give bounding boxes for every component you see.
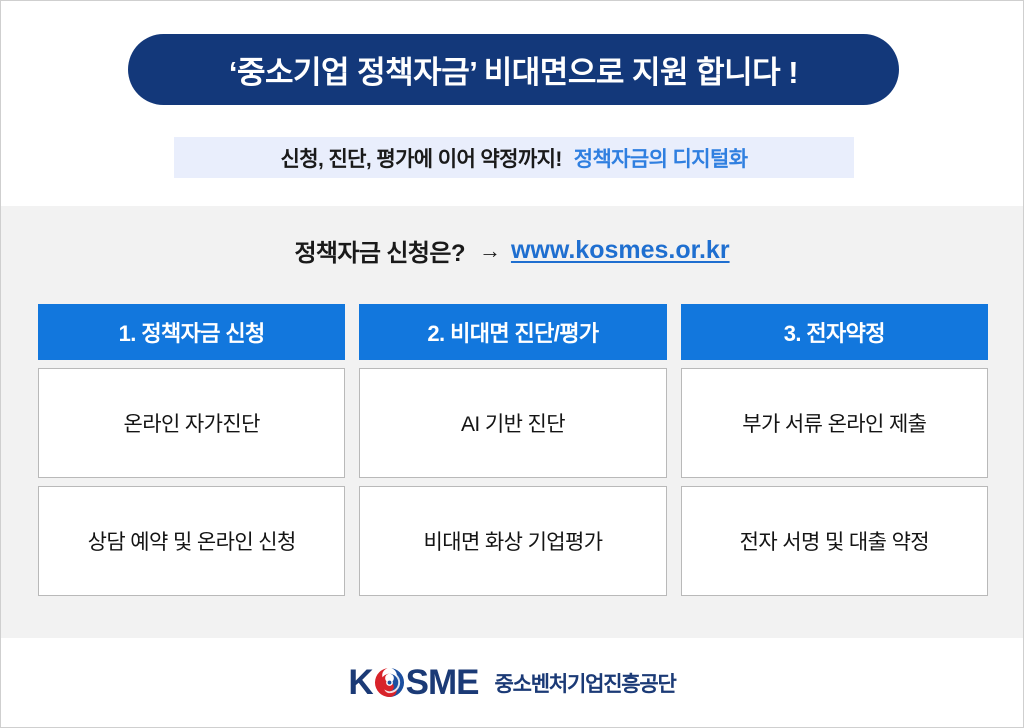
title-text: ‘중소기업 정책자금’ 비대면으로 지원 합니다 ! [229,47,798,92]
column-header-2: 2. 비대면 진단/평가 [359,304,666,360]
kosmes-website-link[interactable]: www.kosmes.or.kr [511,236,730,265]
infographic-page: ‘중소기업 정책자금’ 비대면으로 지원 합니다 ! 신청, 진단, 평가에 이… [0,0,1024,728]
process-cell-3-1-label: 부가 서류 온라인 제출 [742,408,926,438]
subtitle-band: 신청, 진단, 평가에 이어 약정까지! 정책자금의 디지털화 [174,137,854,178]
process-columns: 1. 정책자금 신청 온라인 자가진단 상담 예약 및 온라인 신청 2. 비대… [38,304,988,596]
column-header-3-label: 3. 전자약정 [784,316,885,348]
kosme-wordmark: K SME [348,665,478,700]
process-cell-2-2: 비대면 화상 기업평가 [359,486,666,596]
process-cell-2-1-label: AI 기반 진단 [461,408,565,438]
process-cell-3-1: 부가 서류 온라인 제출 [681,368,988,478]
subtitle-main-text: 신청, 진단, 평가에 이어 약정까지! [281,143,562,173]
logo-letters-sme: SME [406,665,479,700]
apply-line: 정책자금 신청은? → www.kosmes.or.kr [1,233,1023,268]
process-cell-3-2: 전자 서명 및 대출 약정 [681,486,988,596]
arrow-right-icon: → [479,238,501,264]
kosme-logo: K SME 중소벤처기업진흥공단 [348,665,675,700]
subtitle-accent-text: 정책자금의 디지털화 [574,143,748,173]
top-band: ‘중소기업 정책자금’ 비대면으로 지원 합니다 ! 신청, 진단, 평가에 이… [1,1,1023,206]
process-cell-1-2: 상담 예약 및 온라인 신청 [38,486,345,596]
process-column-2: 2. 비대면 진단/평가 AI 기반 진단 비대면 화상 기업평가 [359,304,666,596]
apply-label: 정책자금 신청은? [294,233,465,268]
column-header-1-label: 1. 정책자금 신청 [119,316,265,348]
column-header-2-label: 2. 비대면 진단/평가 [427,316,598,348]
column-header-3: 3. 전자약정 [681,304,988,360]
process-cell-1-1: 온라인 자가진단 [38,368,345,478]
process-cell-1-2-label: 상담 예약 및 온라인 신청 [88,526,296,556]
logo-korean-name: 중소벤처기업진흥공단 [494,668,675,698]
taegeuk-swirl-icon [374,667,405,698]
column-header-1: 1. 정책자금 신청 [38,304,345,360]
process-column-3: 3. 전자약정 부가 서류 온라인 제출 전자 서명 및 대출 약정 [681,304,988,596]
content-band: 정책자금 신청은? → www.kosmes.or.kr 1. 정책자금 신청 … [1,206,1023,638]
process-cell-2-1: AI 기반 진단 [359,368,666,478]
title-banner: ‘중소기업 정책자금’ 비대면으로 지원 합니다 ! [128,34,899,105]
logo-letter-k: K [348,665,372,700]
process-column-1: 1. 정책자금 신청 온라인 자가진단 상담 예약 및 온라인 신청 [38,304,345,596]
footer: K SME 중소벤처기업진흥공단 [1,638,1023,727]
process-cell-2-2-label: 비대면 화상 기업평가 [424,526,603,556]
process-cell-1-1-label: 온라인 자가진단 [124,408,260,438]
process-cell-3-2-label: 전자 서명 및 대출 약정 [740,526,929,556]
